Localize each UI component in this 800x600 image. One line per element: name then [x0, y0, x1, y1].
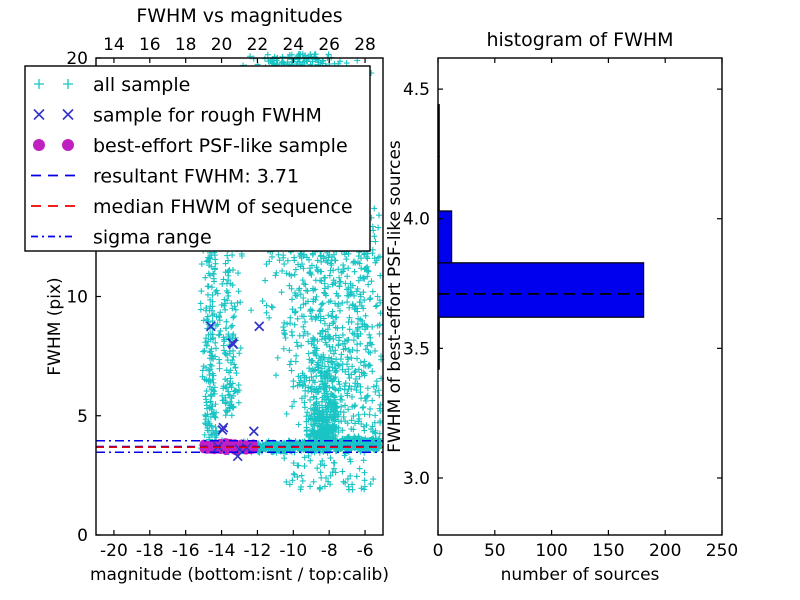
- right-xticklabel: 200: [649, 541, 681, 561]
- left-xticklabel-bottom: -16: [172, 541, 200, 561]
- left-xticklabel-top: 28: [354, 35, 376, 55]
- histogram-bar: [438, 263, 644, 317]
- right-xticklabel: 0: [433, 541, 444, 561]
- left-xticklabel-top: 16: [139, 35, 161, 55]
- right-xticklabel: 50: [484, 541, 506, 561]
- legend-item-label: all sample: [93, 74, 190, 96]
- legend-item-label: best-effort PSF-like sample: [93, 135, 348, 157]
- legend-item-label: sample for rough FWHM: [93, 105, 322, 127]
- left-xticklabel-top: 24: [282, 35, 304, 55]
- right-xaxis-label: number of sources: [501, 565, 660, 585]
- left-xticklabel-bottom: -12: [244, 541, 272, 561]
- legend-box: [25, 66, 370, 251]
- right-panel-title: histogram of FWHM: [486, 29, 673, 51]
- left-xticklabel-top: 26: [318, 35, 340, 55]
- matplotlib-figure: -20-18-16-14-12-10-8-6141618202224262805…: [0, 0, 800, 600]
- left-xticklabel-top: 22: [247, 35, 269, 55]
- left-xticklabel-bottom: -10: [279, 541, 307, 561]
- left-xticklabel-top: 14: [103, 35, 125, 55]
- histogram-bars: [438, 105, 644, 369]
- left-xticklabel-bottom: -18: [136, 541, 164, 561]
- right-xticklabel: 250: [706, 541, 738, 561]
- left-xticklabel-bottom: -6: [357, 541, 374, 561]
- right-yticklabel: 4.0: [403, 210, 430, 230]
- right-yticklabel: 3.0: [403, 469, 430, 489]
- legend-dot-icon: [62, 139, 74, 151]
- left-xticklabel-bottom: -20: [100, 541, 128, 561]
- legend-item-label: sigma range: [93, 227, 212, 249]
- left-xaxis-label: magnitude (bottom:isnt / top:calib): [90, 565, 389, 585]
- left-yaxis-label: FWHM (pix): [45, 277, 65, 375]
- left-xticklabel-bottom: -8: [321, 541, 338, 561]
- left-yticklabel: 10: [66, 288, 88, 308]
- left-yticklabel: 5: [77, 407, 88, 427]
- left-yticklabel: 0: [77, 526, 88, 546]
- left-panel-title: FWHM vs magnitudes: [136, 5, 342, 27]
- left-xticklabel-bottom: -14: [208, 541, 236, 561]
- right-xticklabel: 100: [535, 541, 567, 561]
- right-yaxis-label: FWHM of best-effort PSF-like sources: [385, 140, 405, 453]
- left-xticklabel-top: 20: [211, 35, 233, 55]
- right-yticklabel: 3.5: [403, 339, 430, 359]
- right-yticklabel: 4.5: [403, 80, 430, 100]
- legend-item-label: resultant FWHM: 3.71: [93, 166, 299, 188]
- legend-item-label: median FHWM of sequence: [93, 196, 353, 218]
- figure-canvas: -20-18-16-14-12-10-8-6141618202224262805…: [0, 0, 800, 600]
- legend-dot-icon: [33, 139, 45, 151]
- left-xticklabel-top: 18: [175, 35, 197, 55]
- right-xticklabel: 150: [592, 541, 624, 561]
